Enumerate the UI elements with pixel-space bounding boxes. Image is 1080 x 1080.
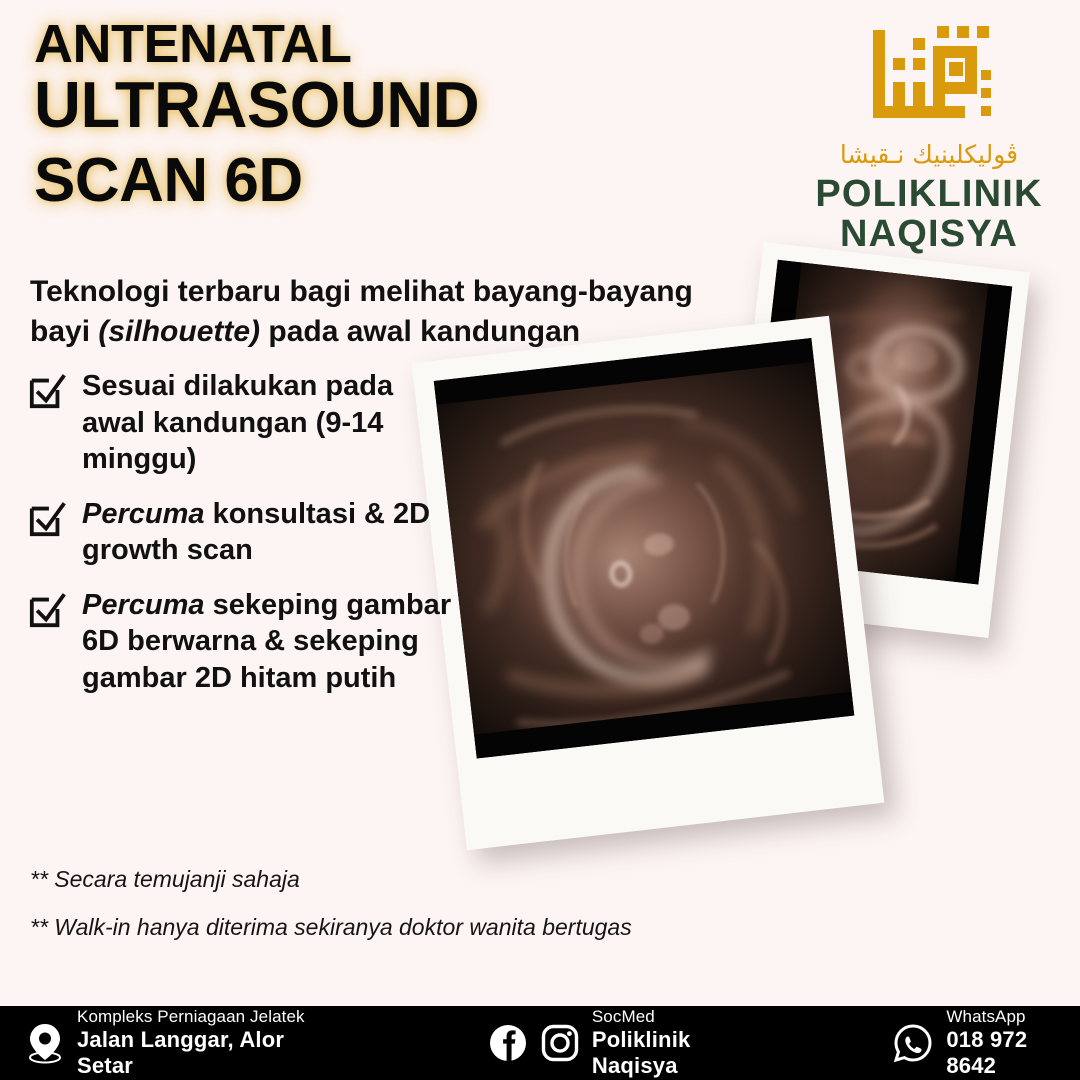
footer-whatsapp-group: WhatsApp 018 972 8642 [893,1007,1080,1078]
whatsapp-icon[interactable] [893,1023,933,1063]
footer-social-text: SocMed Poliklinik Naqisya [592,1007,778,1078]
footer-social-label: SocMed [592,1007,778,1027]
checkbox-checked-icon [28,591,66,629]
facebook-icon[interactable] [489,1024,527,1062]
list-item: Percuma konsultasi & 2D growth scan [28,496,458,569]
ultrasound-photo-front [412,316,885,850]
footer-contact-bar: Kompleks Perniagaan Jelatek Jalan Langga… [0,1006,1080,1080]
clinic-logo: ڤوليكلينيك نـقيشا POLIKLINIK NAQISYA [804,22,1054,254]
logo-brand-line-2: NAQISYA [804,214,1054,254]
footer-whatsapp-number: 018 972 8642 [946,1027,1080,1079]
intro-italic: (silhouette) [98,315,260,348]
logo-jawi-text: ڤوليكلينيك نـقيشا [804,141,1054,170]
footer-address-group: Kompleks Perniagaan Jelatek Jalan Langga… [26,1007,341,1078]
list-item-emphasis: Percuma [82,589,205,621]
headline-line-1: ANTENATAL [34,18,654,71]
footnote-1: ** Secara temujanji sahaja [30,866,790,893]
list-item-text: Percuma konsultasi & 2D growth scan [82,496,458,569]
page-title: ANTENATAL ULTRASOUND SCAN 6D [34,18,654,211]
list-item-emphasis: Percuma [82,498,205,530]
checkbox-checked-icon [28,500,66,538]
intro-paragraph: Teknologi terbaru bagi melihat bayang-ba… [30,272,720,351]
square-kufic-naqisya-mark-icon [865,22,993,134]
ultrasound-render-front [434,338,855,759]
footer-social-handle: Poliklinik Naqisya [592,1027,778,1079]
footer-social-group: SocMed Poliklinik Naqisya [489,1007,778,1078]
footer-whatsapp-text: WhatsApp 018 972 8642 [946,1007,1080,1078]
logo-brand-line-1: POLIKLINIK [804,174,1054,214]
location-pin-icon [26,1022,64,1064]
list-item: Percuma sekeping gambar 6D berwarna & se… [28,587,458,697]
footer-address-line-1: Kompleks Perniagaan Jelatek [77,1007,341,1027]
ultrasound-image-front [434,338,855,759]
list-item: Sesuai dilakukan pada awal kandungan (9-… [28,368,458,478]
instagram-icon[interactable] [541,1024,579,1062]
poster-canvas: ANTENATAL ULTRASOUND SCAN 6D [0,0,1080,1080]
checkbox-checked-icon [28,372,66,410]
intro-part-2: pada awal kandungan [260,315,580,348]
headline-line-3: SCAN 6D [34,151,654,212]
headline-line-2: ULTRASOUND [34,73,654,137]
list-item-label: Sesuai dilakukan pada awal kandungan (9-… [82,370,393,475]
list-item-text: Percuma sekeping gambar 6D berwarna & se… [82,587,458,697]
kufic-mark-wrap [804,22,1054,134]
benefits-checklist: Sesuai dilakukan pada awal kandungan (9-… [28,368,458,714]
footnotes: ** Secara temujanji sahaja ** Walk-in ha… [30,866,790,962]
footer-address-line-2: Jalan Langgar, Alor Setar [77,1027,341,1079]
list-item-text: Sesuai dilakukan pada awal kandungan (9-… [82,368,458,478]
footer-whatsapp-label: WhatsApp [946,1007,1080,1027]
footnote-2: ** Walk-in hanya diterima sekiranya dokt… [30,914,790,941]
footer-address-text: Kompleks Perniagaan Jelatek Jalan Langga… [77,1007,341,1078]
